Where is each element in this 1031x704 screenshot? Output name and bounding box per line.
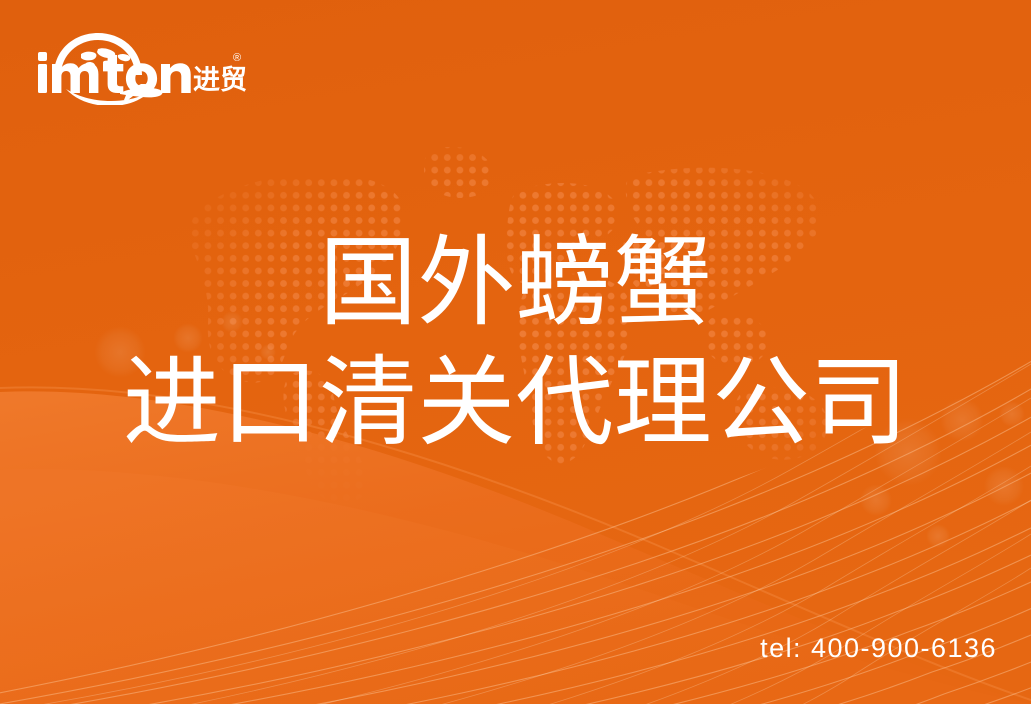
headline-block: 国外螃蟹 进口清关代理公司 <box>0 225 1031 460</box>
registered-trademark-icon: ® <box>233 52 241 64</box>
logo-wordmark-chinese: 进贸通 <box>193 65 246 95</box>
promo-banner: 进贸通 ® 国外螃蟹 进口清关代理公司 tel: 400-900-6136 <box>0 0 1031 704</box>
company-logo-svg: 进贸通 ® <box>36 27 246 105</box>
company-logo[interactable]: 进贸通 ® <box>36 27 246 105</box>
contact-telephone[interactable]: tel: 400-900-6136 <box>760 633 997 664</box>
headline-line-1: 国外螃蟹 <box>0 225 1031 341</box>
headline-line-2: 进口清关代理公司 <box>0 345 1031 461</box>
